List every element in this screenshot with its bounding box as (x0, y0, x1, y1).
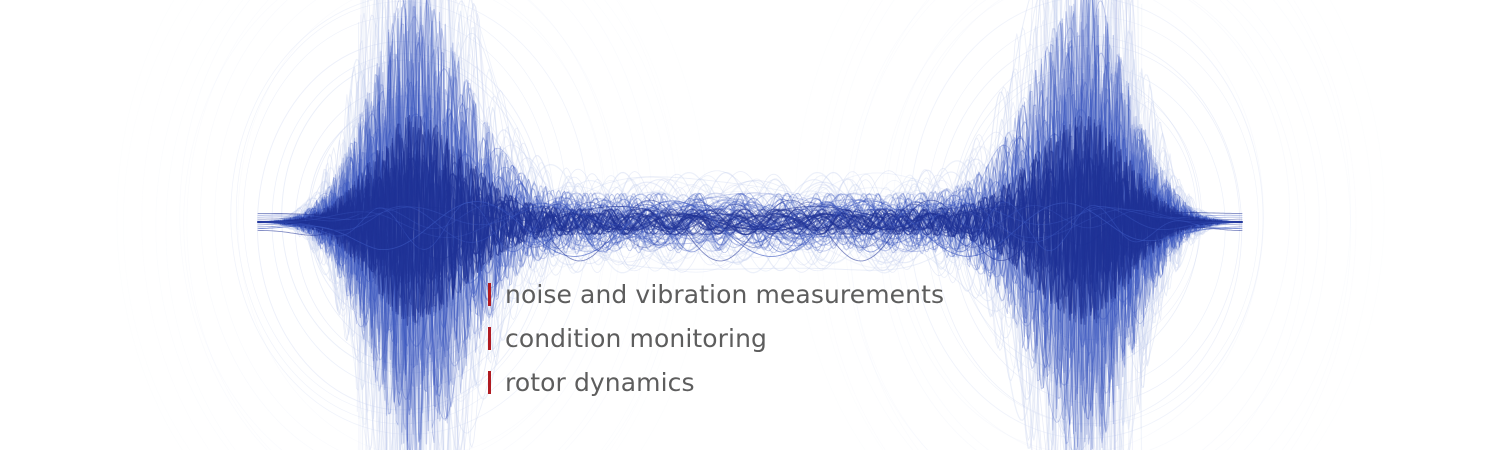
tagline-label: rotor dynamics (505, 370, 695, 395)
tagline-marker-icon (488, 327, 491, 350)
tagline-label: noise and vibration measurements (505, 282, 944, 307)
tagline-item-0: noise and vibration measurements (488, 272, 1088, 316)
tagline-item-2: rotor dynamics (488, 360, 1088, 404)
hero-banner: noise and vibration measurements conditi… (0, 0, 1500, 450)
tagline-marker-icon (488, 371, 491, 394)
tagline-item-1: condition monitoring (488, 316, 1088, 360)
tagline-label: condition monitoring (505, 326, 767, 351)
tagline-marker-icon (488, 283, 491, 306)
tagline-list: noise and vibration measurements conditi… (488, 272, 1088, 404)
